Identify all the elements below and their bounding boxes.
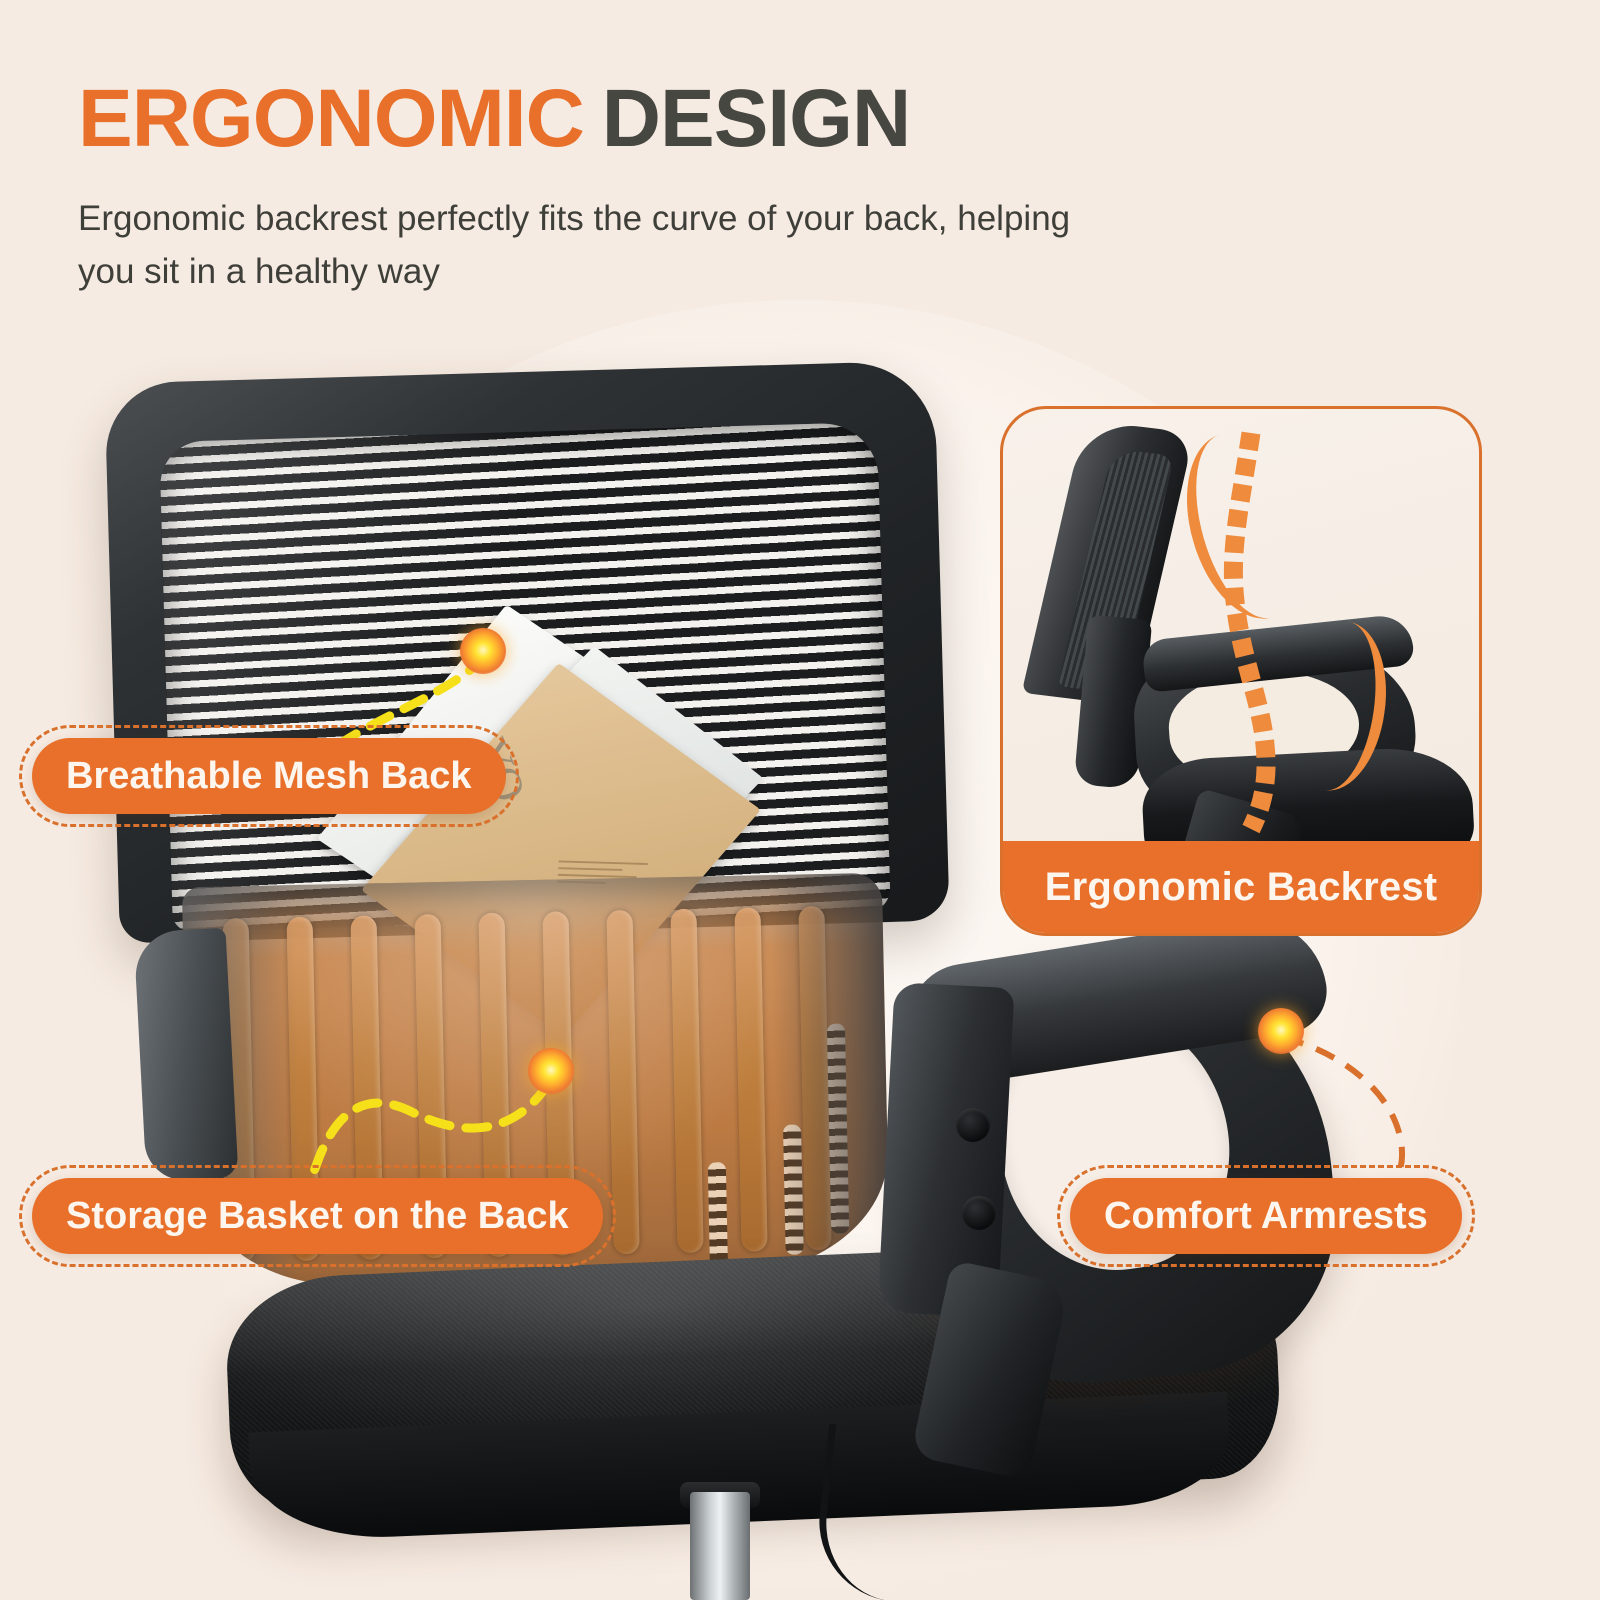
glow-dot-icon-basket <box>528 1048 574 1094</box>
inset-panel-label: Ergonomic Backrest <box>1003 841 1479 933</box>
gas-cylinder <box>690 1492 750 1600</box>
chair-back-left-wing <box>134 928 239 1182</box>
motion-swoosh-icon-upper <box>1167 420 1325 633</box>
callout-comfort-armrests: Comfort Armrests <box>1070 1178 1462 1254</box>
armrest-screw-lower <box>962 1196 996 1230</box>
armrest-screw-upper <box>956 1108 990 1142</box>
callout-breathable-mesh-back: Breathable Mesh Back <box>32 738 506 814</box>
callout-storage-basket-on-the-back: Storage Basket on the Back <box>32 1178 603 1254</box>
armrest-support-post <box>877 982 1014 1318</box>
ergonomic-backrest-inset-panel: Ergonomic Backrest <box>1000 406 1482 936</box>
glow-dot-icon-mesh <box>460 628 506 674</box>
glow-dot-icon-armrest <box>1258 1008 1304 1054</box>
